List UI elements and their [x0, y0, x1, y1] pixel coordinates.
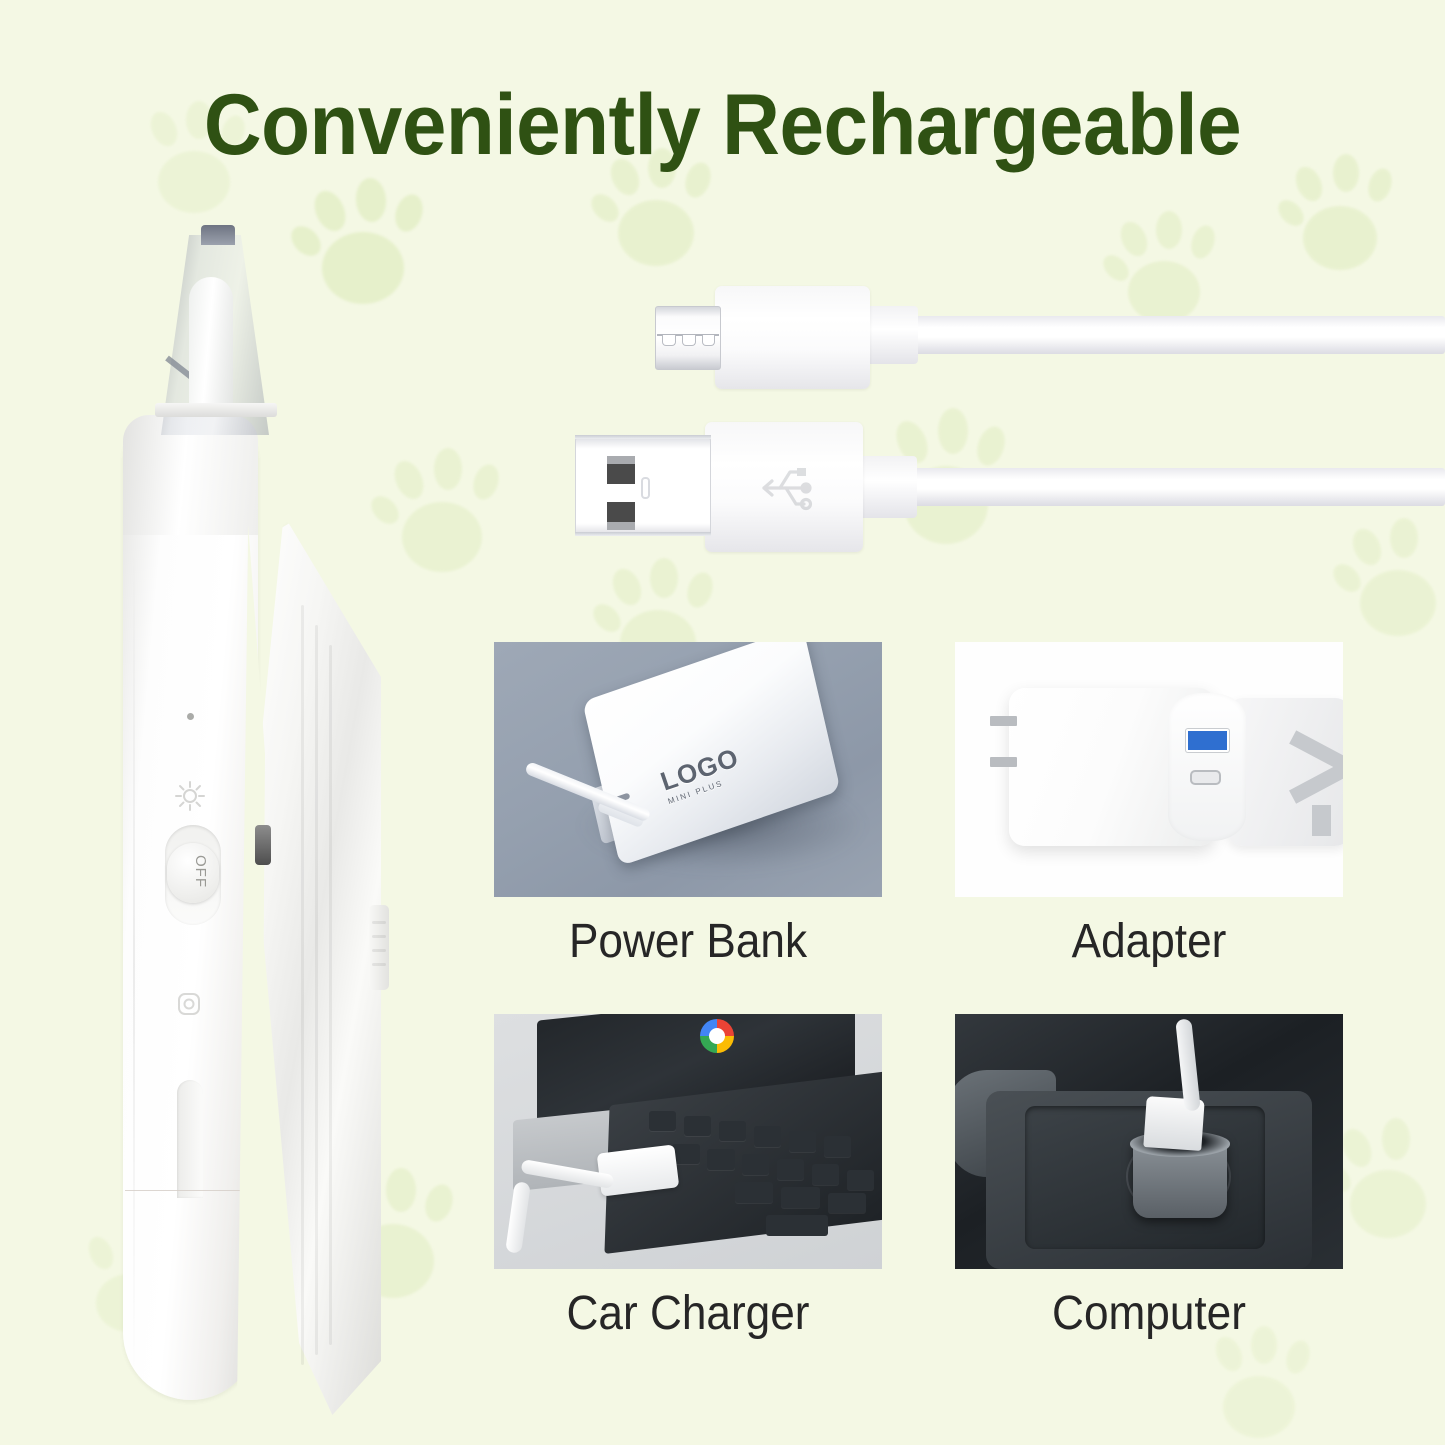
usb-keyhole-icon	[641, 477, 650, 499]
charging-option-adapter[interactable]: Adapter	[955, 642, 1343, 972]
charging-option-power-bank[interactable]: LOGOMINI PLUS Power Bank	[494, 642, 882, 972]
micro-usb-housing	[715, 286, 870, 389]
cable-cord	[905, 468, 1445, 506]
car-socket-photo	[955, 1014, 1343, 1269]
usb-a-port-icon	[1186, 729, 1229, 752]
clipper-inner-post	[189, 277, 233, 409]
clipper-pivot	[255, 825, 271, 865]
light-icon	[173, 779, 207, 813]
usb-a-cable	[565, 408, 1445, 548]
clipper-seam	[125, 1190, 256, 1191]
product-nail-clipper: OFF	[105, 225, 445, 1400]
usb-trident-icon	[750, 452, 822, 529]
laptop-photo	[494, 1014, 882, 1269]
clipper-cap-lip	[155, 403, 277, 417]
cable-strain-relief	[855, 456, 917, 518]
cable-cord	[905, 316, 1445, 354]
caption-computer: Computer	[971, 1286, 1328, 1341]
charging-option-car-charger[interactable]: Car Charger	[494, 1014, 882, 1344]
switch-off-label: OFF	[192, 855, 209, 888]
clipper-grip-tab	[369, 905, 389, 990]
charging-option-computer[interactable]: Computer	[955, 1014, 1343, 1344]
infographic-canvas: Conveniently Rechargeable	[0, 0, 1445, 1445]
caption-adapter: Adapter	[971, 914, 1328, 969]
page-title: Conveniently Rechargeable	[51, 76, 1395, 175]
paw-print	[1205, 1330, 1335, 1445]
chrome-logo-icon	[700, 1019, 734, 1053]
micro-usb-cable	[600, 278, 1445, 398]
clipper-cap-knob	[201, 225, 235, 245]
caption-power-bank: Power Bank	[510, 914, 867, 969]
power-bank-photo: LOGOMINI PLUS	[494, 642, 882, 897]
paw-print	[1285, 160, 1415, 290]
clipper-slot	[177, 1080, 203, 1198]
adapter-photo	[955, 642, 1343, 897]
paw-print	[1330, 1120, 1445, 1265]
power-icon	[175, 990, 203, 1018]
usb-c-port-icon	[1190, 770, 1221, 785]
led-indicator-icon	[187, 713, 194, 720]
caption-car-charger: Car Charger	[510, 1286, 867, 1341]
